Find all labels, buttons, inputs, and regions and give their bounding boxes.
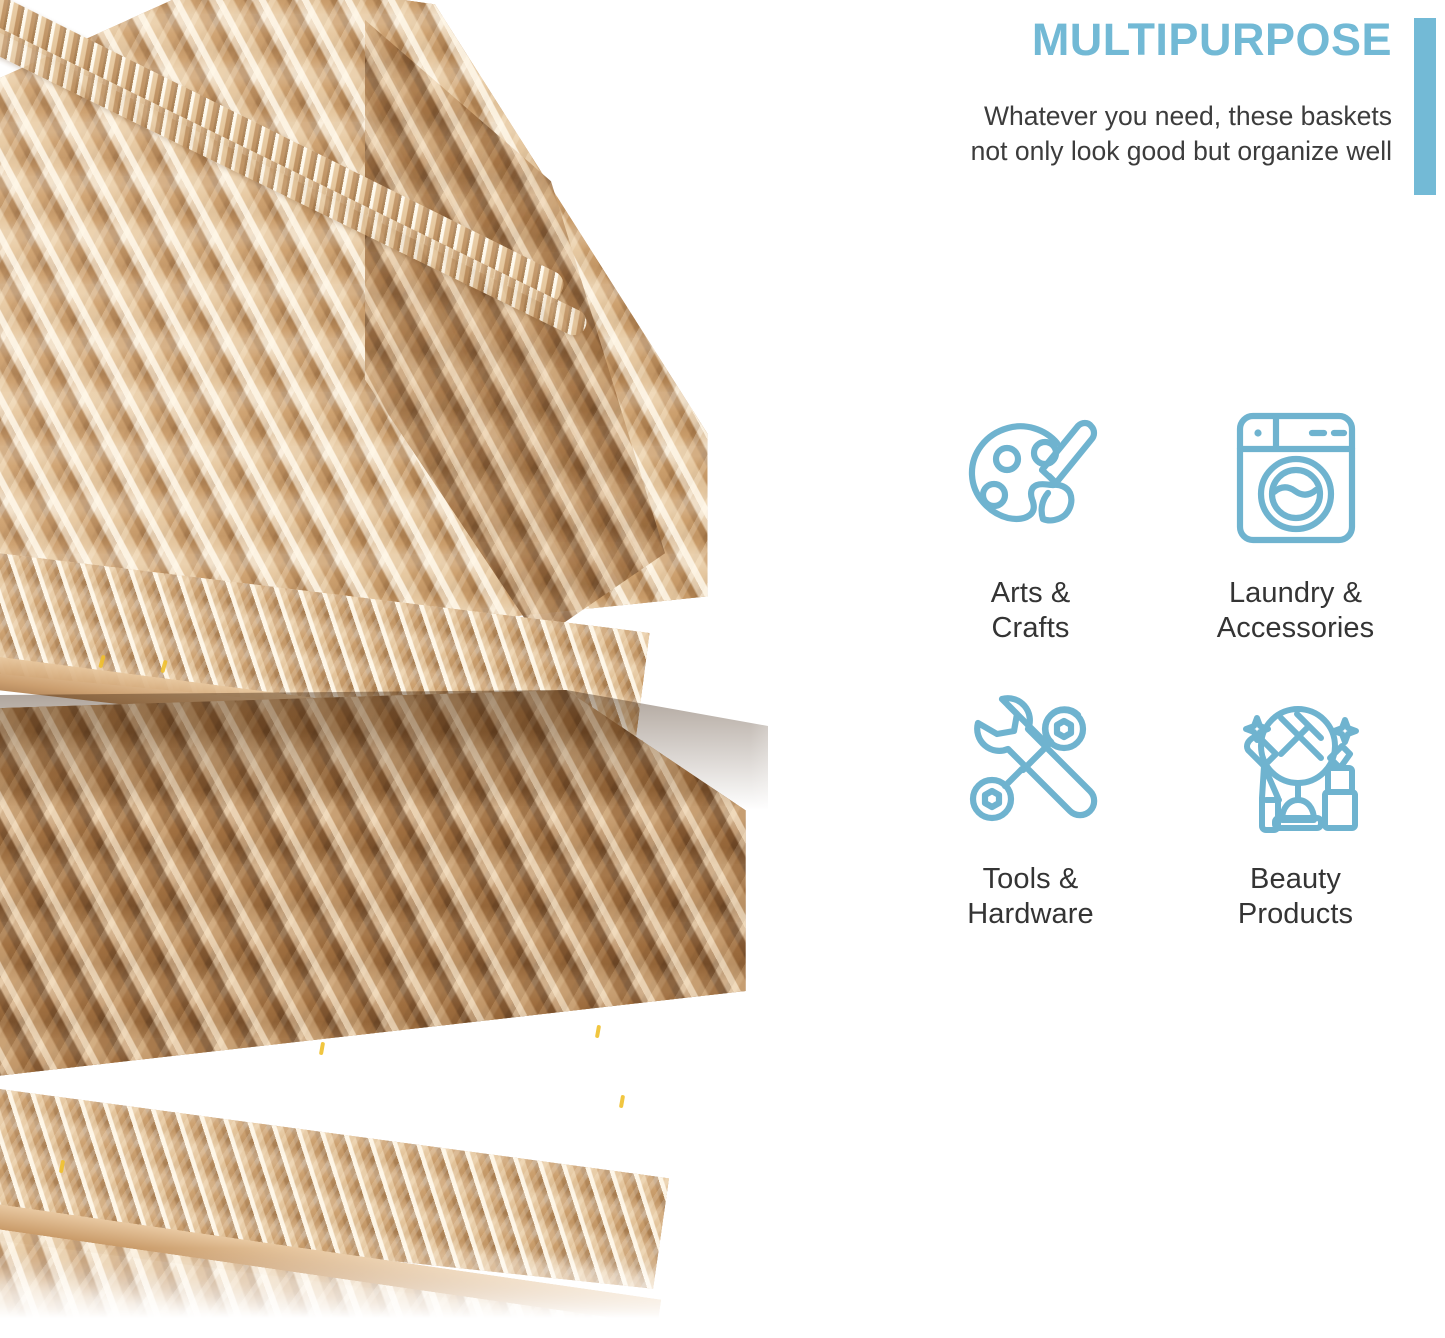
feature-label-line-1: Beauty (1238, 862, 1353, 897)
feature-label-line-2: Accessories (1217, 611, 1374, 646)
photo-bottom-fade (0, 1248, 870, 1338)
binding-thread (319, 1042, 325, 1055)
paint-palette-icon (956, 405, 1106, 550)
feature-label-line-2: Crafts (991, 611, 1071, 646)
feature-label-line-1: Laundry & (1217, 576, 1374, 611)
feature-label-beauty-products: Beauty Products (1238, 862, 1353, 933)
feature-label-arts-crafts: Arts & Crafts (991, 576, 1071, 647)
basket-bottom-shadow (0, 690, 870, 810)
vanity-mirror-icon (1221, 691, 1371, 836)
info-panel: MULTIPURPOSE Whatever you need, these ba… (870, 0, 1445, 1338)
binding-thread (619, 1095, 625, 1108)
feature-grid: Arts & Crafts (903, 405, 1423, 933)
washing-machine-icon (1221, 405, 1371, 550)
feature-label-line-1: Arts & (991, 576, 1071, 611)
basket-top (0, 0, 860, 750)
feature-label-line-2: Hardware (967, 897, 1094, 932)
feature-label-line-2: Products (1238, 897, 1353, 932)
product-feature-banner: MULTIPURPOSE Whatever you need, these ba… (0, 0, 1445, 1338)
basket-bottom (0, 690, 870, 1338)
feature-item-beauty-products: Beauty Products (1168, 691, 1423, 933)
feature-label-line-1: Tools & (967, 862, 1094, 897)
photo-right-fade (750, 0, 870, 1338)
feature-item-arts-crafts: Arts & Crafts (903, 405, 1158, 647)
feature-item-tools-hardware: Tools & Hardware (903, 691, 1158, 933)
subtitle: Whatever you need, these baskets not onl… (912, 99, 1392, 169)
crossed-wrenches-icon (956, 691, 1106, 836)
feature-item-laundry-accessories: Laundry & Accessories (1168, 405, 1423, 647)
subtitle-line-1: Whatever you need, these baskets (912, 99, 1392, 134)
subtitle-line-2: not only look good but organize well (912, 134, 1392, 169)
binding-thread (595, 1025, 601, 1038)
feature-label-laundry-accessories: Laundry & Accessories (1217, 576, 1374, 647)
accent-bar (1414, 18, 1436, 195)
page-title: MULTIPURPOSE (912, 16, 1392, 63)
feature-label-tools-hardware: Tools & Hardware (967, 862, 1094, 933)
product-photo-baskets (0, 0, 870, 1338)
